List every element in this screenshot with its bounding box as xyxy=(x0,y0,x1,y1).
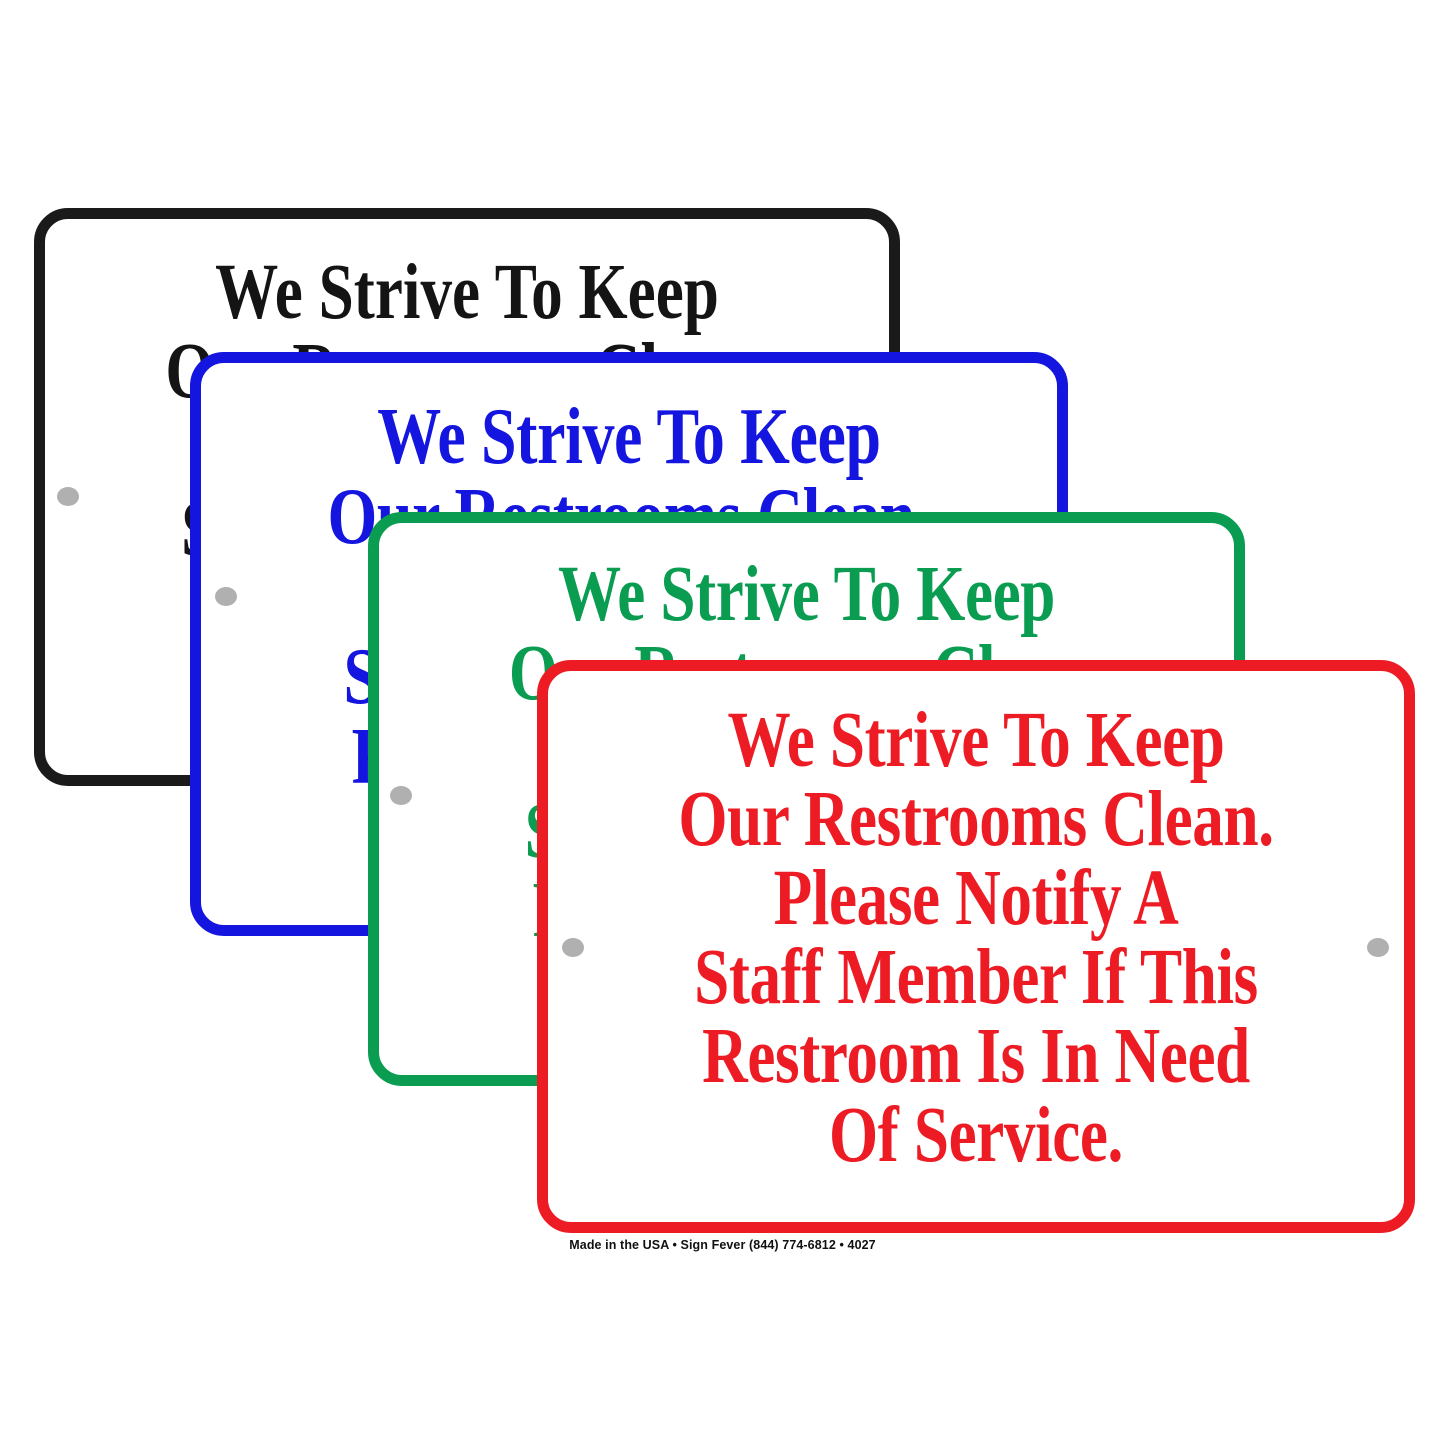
mounting-hole-icon-red-left xyxy=(562,938,584,957)
sign-collage: We Strive To Keep Our Restrooms Clean. P… xyxy=(0,0,1445,1445)
sign-green-line-1: We Strive To Keep xyxy=(465,555,1149,634)
sign-red-line-6: Of Service. xyxy=(634,1096,1319,1175)
sign-red-line-1: We Strive To Keep xyxy=(634,701,1319,780)
sign-blue-line-1: We Strive To Keep xyxy=(287,397,972,477)
mounting-hole-icon-black-left xyxy=(57,487,79,506)
sign-red[interactable]: We Strive To Keep Our Restrooms Clean. P… xyxy=(537,660,1415,1233)
sign-red-line-4: Staff Member If This xyxy=(634,938,1319,1017)
sign-black-line-1: We Strive To Keep xyxy=(129,253,804,332)
sign-red-line-2: Our Restrooms Clean. xyxy=(634,780,1319,859)
sign-red-text: We Strive To Keep Our Restrooms Clean. P… xyxy=(548,701,1404,1175)
mounting-hole-icon-blue-left xyxy=(215,587,237,606)
sign-red-line-3: Please Notify A xyxy=(634,859,1319,938)
mounting-hole-icon-green-left xyxy=(390,786,412,805)
mounting-hole-icon-red-right xyxy=(1367,938,1389,957)
manufacturer-fineprint: Made in the USA • Sign Fever (844) 774-6… xyxy=(0,1238,1445,1252)
sign-red-line-5: Restroom Is In Need xyxy=(634,1017,1319,1096)
